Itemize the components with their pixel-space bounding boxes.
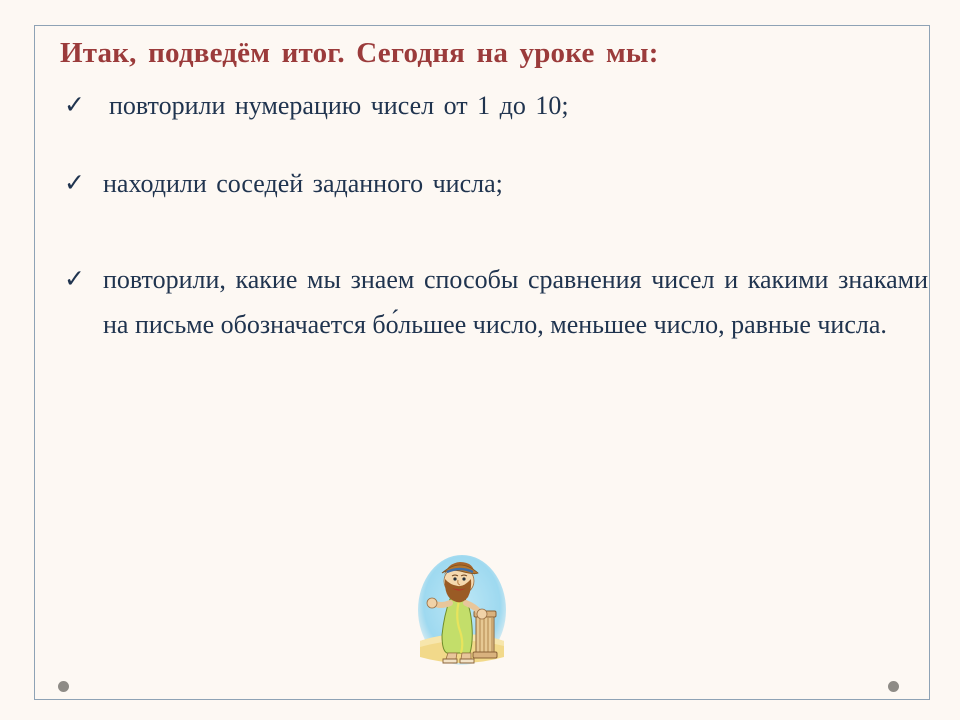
list-item: ✓ повторили нумерацию чисел от 1 до 10;: [48, 88, 916, 123]
list-item-label: повторили нумерацию чисел от 1 до 10;: [103, 88, 916, 123]
page-title: Итак, подведём итог. Сегодня на уроке мы…: [60, 34, 916, 72]
list-item-label: повторили, какие мы знаем способы сравне…: [103, 257, 928, 347]
slide: Итак, подведём итог. Сегодня на уроке мы…: [0, 0, 960, 720]
checkmark-icon: ✓: [64, 166, 90, 201]
checkmark-icon: ✓: [64, 88, 90, 123]
decorative-dot-right: [888, 681, 899, 692]
checkmark-icon: ✓: [64, 257, 90, 302]
list-item: ✓ повторили, какие мы знаем способы срав…: [48, 257, 916, 347]
list-item: ✓ находили соседей заданного числа;: [48, 166, 916, 201]
philosopher-illustration: [414, 553, 510, 671]
summary-bullet-list: ✓ повторили нумерацию чисел от 1 до 10; …: [48, 88, 916, 347]
decorative-dot-left: [58, 681, 69, 692]
list-item-label: находили соседей заданного числа;: [103, 166, 916, 201]
